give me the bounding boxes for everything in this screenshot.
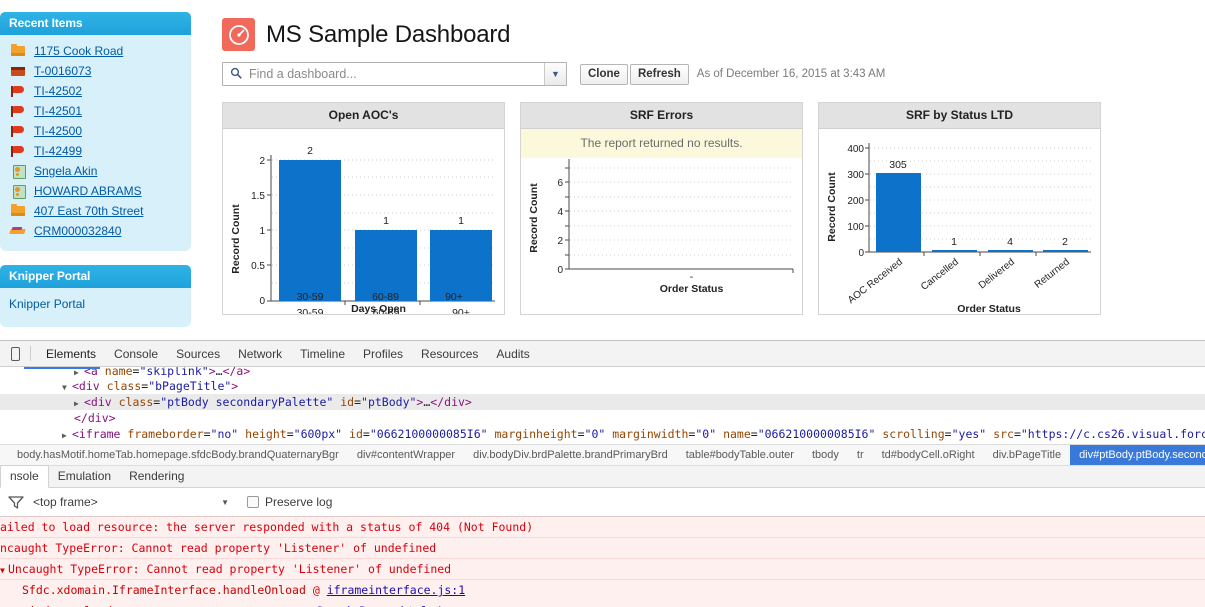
chart-x-tick-label: - [551,271,832,283]
breadcrumb-item[interactable]: div.bodyDiv.brdPalette.brandPrimaryBrd [464,444,677,466]
breadcrumb-item[interactable]: table#bodyTable.outer [677,444,803,466]
console-message[interactable]: ncaught TypeError: Cannot read property … [0,538,1205,559]
folder-icon [10,44,28,58]
dashboard-gauge-icon [222,18,255,51]
breadcrumb-item[interactable]: tr [848,444,873,466]
list-item[interactable]: TI-42499 [0,141,191,161]
chart-plot-area: Record Count 6 4 2 0 [521,158,802,314]
svg-text:2: 2 [307,145,313,157]
preserve-log-checkbox[interactable] [247,496,259,508]
recent-item-link[interactable]: Sngela Akin [34,164,97,178]
drawer-tabbar: nsole Emulation Rendering [0,466,1205,488]
preserve-log-toggle[interactable]: Preserve log [247,495,332,509]
console-stack-frame[interactable]: Sfdc.xdomain.IframeInterface.handleOnloa… [0,580,1205,601]
expand-triangle-icon[interactable]: ▶ [62,428,72,442]
list-item[interactable]: TI-42500 [0,121,191,141]
knipper-portal-header: Knipper Portal [0,265,191,288]
recent-item-link[interactable]: CRM000032840 [34,224,121,238]
expand-triangle-icon[interactable]: ▼ [0,560,8,581]
console-filter-bar: <top frame> ▼ Preserve log [0,488,1205,517]
svg-text:Record Count: Record Count [826,172,838,242]
chart-body[interactable]: The report returned no results. Record C… [521,129,802,314]
chart-x-tick-labels: 30-5960-8990+ [253,291,504,303]
page-title: MS Sample Dashboard [266,21,510,49]
recent-items-list: 1175 Cook Road T-0016073 TI-42502 TI-425… [0,35,191,251]
chart-panel-srf-by-status: SRF by Status LTD Record Count 400 300 2… [818,102,1101,315]
devtools-panel: Elements Console Sources Network Timelin… [0,340,1205,607]
svg-text:4: 4 [557,207,563,218]
list-item[interactable]: 407 East 70th Street [0,201,191,221]
knipper-portal-block: Knipper Portal Knipper Portal [0,265,191,327]
chart-x-axis-label: Order Status [551,283,832,295]
devtools-tabbar: Elements Console Sources Network Timelin… [0,341,1205,367]
console-message[interactable]: ailed to load resource: the server respo… [0,517,1205,538]
svg-text:1: 1 [383,215,389,227]
svg-text:2: 2 [259,156,265,167]
dashboard-finder[interactable]: ▼ [222,62,567,86]
main-content: MS Sample Dashboard ▼ Clone Refresh As o… [205,0,1205,315]
recent-item-link[interactable]: TI-42500 [34,124,82,138]
as-of-timestamp: As of December 16, 2015 at 3:43 AM [697,68,886,80]
active-tab-underline [24,367,100,369]
svg-text:0: 0 [858,248,864,259]
knipper-portal-link[interactable]: Knipper Portal [9,297,85,311]
device-toolbar-icon[interactable] [0,347,30,361]
tab-timeline[interactable]: Timeline [291,341,354,367]
chart-panel-open-aocs: Open AOC's Record Count 2 1.5 1 [222,102,505,315]
recent-items-header: Recent Items [0,12,191,35]
svg-text:400: 400 [847,144,864,155]
dom-tree[interactable]: ▶<a name="skiplink">…</a> ▼<div class="b… [0,367,1205,444]
breadcrumb-item[interactable]: div.bPageTitle [984,444,1070,466]
drawer-tab-emulation[interactable]: Emulation [49,466,120,487]
svg-text:1: 1 [951,236,957,248]
folder-icon [10,204,28,218]
chart-x-axis-label: Days Open [253,303,504,315]
svg-text:AOC Received: AOC Received [846,257,905,306]
tab-elements[interactable]: Elements [37,341,105,367]
tab-profiles[interactable]: Profiles [354,341,412,367]
list-item[interactable]: HOWARD ABRAMS [0,181,191,201]
svg-text:100: 100 [847,222,864,233]
collapse-triangle-icon[interactable]: ▼ [62,380,72,396]
preserve-log-label: Preserve log [265,495,332,509]
breadcrumb: body.hasMotif.homeTab.homepage.sfdcBody.… [0,444,1205,466]
flag-icon [10,84,28,98]
svg-text:300: 300 [847,170,864,181]
svg-text:Returned: Returned [1033,257,1072,291]
svg-text:Delivered: Delivered [977,257,1017,292]
svg-text:Record Count: Record Count [230,204,242,274]
svg-text:1: 1 [259,226,265,237]
list-item[interactable]: T-0016073 [0,61,191,81]
svg-text:Cancelled: Cancelled [919,257,961,293]
filter-funnel-icon[interactable] [8,496,24,509]
stack-frame-name: Sfdc.xdomain.IframeInterface.handleOnloa… [22,583,306,597]
recent-items-block: Recent Items 1175 Cook Road T-0016073 TI… [0,12,191,251]
svg-text:1.5: 1.5 [251,191,265,202]
console-message-group[interactable]: ▼Uncaught TypeError: Cannot read propert… [0,559,1205,580]
chart-title: SRF Errors [521,103,802,129]
chart-body[interactable]: Record Count 400 300 200 100 0 [819,129,1100,314]
sidebar: Recent Items 1175 Cook Road T-0016073 TI… [0,12,191,340]
drawer-tab-console[interactable]: nsole [0,465,49,488]
recent-item-link[interactable]: TI-42499 [34,144,82,158]
chart-title: SRF by Status LTD [819,103,1100,129]
recent-item-link[interactable]: 1175 Cook Road [34,44,123,58]
dom-node-iframe[interactable]: ▶<iframe frameborder="no" height="600px"… [0,426,1205,442]
breadcrumb-item[interactable]: body.hasMotif.homeTab.homepage.sfdcBody.… [8,444,348,466]
recent-item-link[interactable]: 407 East 70th Street [34,204,143,218]
flag-icon [10,144,28,158]
screen-root: Recent Items 1175 Cook Road T-0016073 TI… [0,0,1205,607]
svg-text:2: 2 [557,236,563,247]
list-item[interactable]: TI-42501 [0,101,191,121]
recent-item-link[interactable]: T-0016073 [34,64,91,78]
order-icon [10,224,28,238]
flag-icon [10,104,28,118]
tab-sources[interactable]: Sources [167,341,229,367]
chart-plot-area: Record Count 400 300 200 100 0 [819,129,1100,314]
svg-text:0.5: 0.5 [251,261,265,272]
flag-icon [10,124,28,138]
refresh-button[interactable]: Refresh [630,64,689,85]
tab-network[interactable]: Network [229,341,291,367]
frame-selector-value: <top frame> [33,495,221,509]
list-item[interactable]: CRM000032840 [0,221,191,241]
recent-item-link[interactable]: TI-42501 [34,104,82,118]
breadcrumb-item[interactable]: tbody [803,444,848,466]
charts-row: Open AOC's Record Count 2 1.5 1 [205,86,1205,315]
svg-text:Order Status: Order Status [957,303,1021,314]
chart-title: Open AOC's [223,103,504,129]
search-icon [230,67,242,82]
svg-text:1: 1 [458,215,464,227]
chart-plot-area: Record Count 2 1.5 1 0.5 0 [223,129,504,314]
breadcrumb-item[interactable]: td#bodyCell.oRight [873,444,984,466]
chart-body[interactable]: Record Count 2 1.5 1 0.5 0 [223,129,504,314]
dom-node-bpagetitle[interactable]: ▼<div class="bPageTitle"> [0,378,1205,394]
svg-text:4: 4 [1007,236,1013,248]
svg-text:2: 2 [1062,236,1068,248]
tab-console[interactable]: Console [105,341,167,367]
console-stack-frame[interactable]: window.onload @ crossDomainProxy.html:4 [0,601,1205,607]
stack-frame-link[interactable]: iframeinterface.js:1 [327,583,465,597]
recent-item-link[interactable]: TI-42502 [34,84,82,98]
no-results-message: The report returned no results. [521,129,802,158]
svg-text:200: 200 [847,196,864,207]
breadcrumb-item[interactable]: div#contentWrapper [348,444,464,466]
breadcrumb-item-selected[interactable]: div#ptBody.ptBody.secondaryPa [1070,444,1205,466]
dom-node-close-div[interactable]: </div> [0,410,1205,426]
drawer-tab-rendering[interactable]: Rendering [120,466,193,487]
svg-text:Record Count: Record Count [528,183,540,253]
case-icon [10,64,28,78]
list-item[interactable]: TI-42502 [0,81,191,101]
console-output[interactable]: ailed to load resource: the server respo… [0,517,1205,607]
dashboard-toolbar: ▼ Clone Refresh As of December 16, 2015 … [205,51,1205,86]
recent-item-link[interactable]: HOWARD ABRAMS [34,184,142,198]
clone-button[interactable]: Clone [580,64,628,85]
svg-text:6: 6 [557,178,563,189]
chevron-down-icon[interactable]: ▼ [221,498,229,507]
frame-selector[interactable]: <top frame> ▼ [33,495,229,509]
chevron-down-icon[interactable]: ▼ [544,63,566,85]
chart-panel-srf-errors: SRF Errors The report returned no result… [520,102,803,315]
contact-icon [10,184,28,198]
contact-icon [10,164,28,178]
divider [30,346,31,361]
salesforce-page: Recent Items 1175 Cook Road T-0016073 TI… [0,0,1205,340]
dom-node-ptbody-selected[interactable]: ▶<div class="ptBody secondaryPalette" id… [0,394,1205,410]
tab-audits[interactable]: Audits [487,341,538,367]
expand-triangle-icon[interactable]: ▶ [74,369,84,377]
tab-resources[interactable]: Resources [412,341,487,367]
dom-node-skiplink[interactable]: ▶<a name="skiplink">…</a> [0,367,1205,378]
search-input[interactable] [247,66,544,82]
list-item[interactable]: Sngela Akin [0,161,191,181]
page-title-row: MS Sample Dashboard [205,0,1205,51]
at-symbol: @ [313,583,320,597]
knipper-portal-body: Knipper Portal [0,288,191,327]
svg-text:305: 305 [889,159,907,171]
console-message-text: Uncaught TypeError: Cannot read property… [8,562,451,576]
list-item[interactable]: 1175 Cook Road [0,41,191,61]
